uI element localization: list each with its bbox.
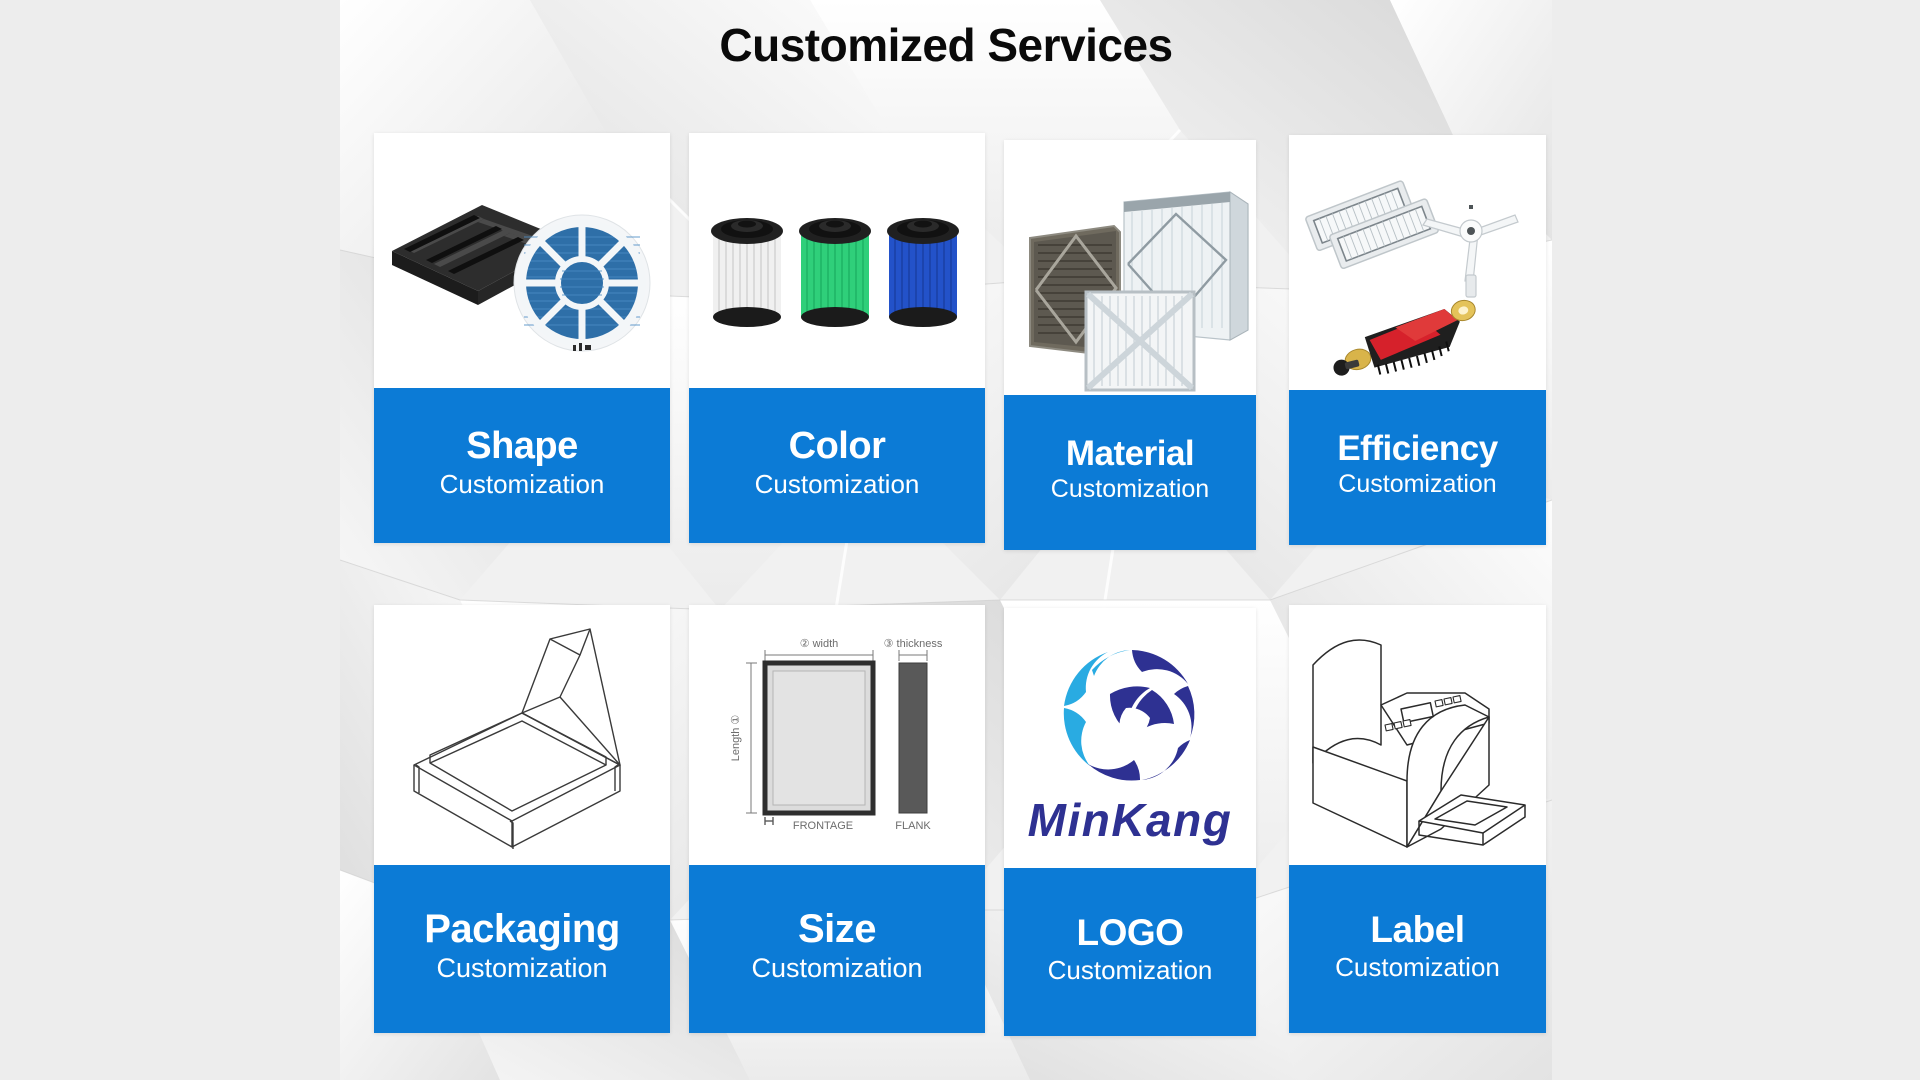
size-frontage-label: FRONTAGE [793, 820, 853, 832]
packaging-card-subtitle: Customization [378, 952, 666, 986]
size-card-subtitle: Customization [693, 952, 981, 986]
service-card-packaging[interactable]: Packaging Customization [374, 605, 670, 1033]
material-card-subtitle: Customization [1008, 474, 1252, 505]
shape-card-subtitle: Customization [378, 468, 666, 501]
color-card-label: Color Customization [689, 388, 985, 543]
size-length-label: Length ① [730, 715, 742, 762]
material-card-label: Material Customization [1004, 395, 1256, 550]
logo-card-subtitle: Customization [1008, 954, 1252, 987]
service-card-logo[interactable]: MinKang LOGO Customization [1004, 608, 1256, 1036]
robot-vacuum-filters-side-brush-roller-brush-icon [1289, 135, 1546, 390]
page-title: Customized Services [340, 18, 1552, 72]
logo-card-title: LOGO [1008, 913, 1252, 952]
logo-card-label: LOGO Customization [1004, 868, 1256, 1036]
shape-card-image [374, 133, 670, 388]
minkang-wordmark: MinKang [1028, 794, 1233, 846]
shape-card-label: Shape Customization [374, 388, 670, 543]
dimension-diagram-frontage-flank-icon: ② width ③ thickness Length ① FRONTAGE FL… [689, 605, 985, 865]
label-card-label: Label Customization [1289, 865, 1546, 1033]
customized-services-banner: Customized Services [0, 0, 1920, 1080]
service-card-efficiency[interactable]: Efficiency Customization [1289, 135, 1546, 545]
size-width-label: ② width [800, 638, 839, 650]
square-carbon-filter-and-round-blue-filter-icon [374, 133, 670, 388]
services-row-1: Shape Customization [374, 133, 1546, 543]
material-card-image [1004, 140, 1256, 395]
service-card-material[interactable]: Material Customization [1004, 140, 1256, 550]
packaging-card-label: Packaging Customization [374, 865, 670, 1033]
label-card-image [1289, 605, 1546, 865]
material-card-title: Material [1008, 435, 1252, 472]
size-card-title: Size [693, 908, 981, 950]
packaging-card-image [374, 605, 670, 865]
service-card-shape[interactable]: Shape Customization [374, 133, 670, 543]
three-cartridge-filters-white-green-blue-icon [689, 133, 985, 388]
panel-filters-mesh-hepa-pleated-icon [1004, 140, 1256, 395]
service-card-color[interactable]: Color Customization [689, 133, 985, 543]
color-card-subtitle: Customization [693, 468, 981, 501]
service-card-label[interactable]: Label Customization [1289, 605, 1546, 1033]
services-row-2: Packaging Customization [374, 605, 1546, 1033]
minkang-brand-logo-icon: MinKang [1004, 608, 1256, 868]
size-thickness-label: ③ thickness [884, 638, 943, 650]
label-card-title: Label [1293, 910, 1542, 949]
size-card-image: ② width ③ thickness Length ① FRONTAGE FL… [689, 605, 985, 865]
service-card-size[interactable]: ② width ③ thickness Length ① FRONTAGE FL… [689, 605, 985, 1033]
open-carton-box-line-drawing-icon [374, 605, 670, 865]
size-flank-label: FLANK [895, 820, 931, 832]
color-card-image [689, 133, 985, 388]
efficiency-card-subtitle: Customization [1293, 469, 1542, 500]
label-printer-line-drawing-icon [1289, 605, 1546, 865]
shape-card-title: Shape [378, 426, 666, 466]
efficiency-card-label: Efficiency Customization [1289, 390, 1546, 545]
label-card-subtitle: Customization [1293, 951, 1542, 984]
size-card-label: Size Customization [689, 865, 985, 1033]
logo-card-image: MinKang [1004, 608, 1256, 868]
packaging-card-title: Packaging [378, 908, 666, 950]
efficiency-card-image [1289, 135, 1546, 390]
color-card-title: Color [693, 426, 981, 466]
efficiency-card-title: Efficiency [1293, 430, 1542, 467]
